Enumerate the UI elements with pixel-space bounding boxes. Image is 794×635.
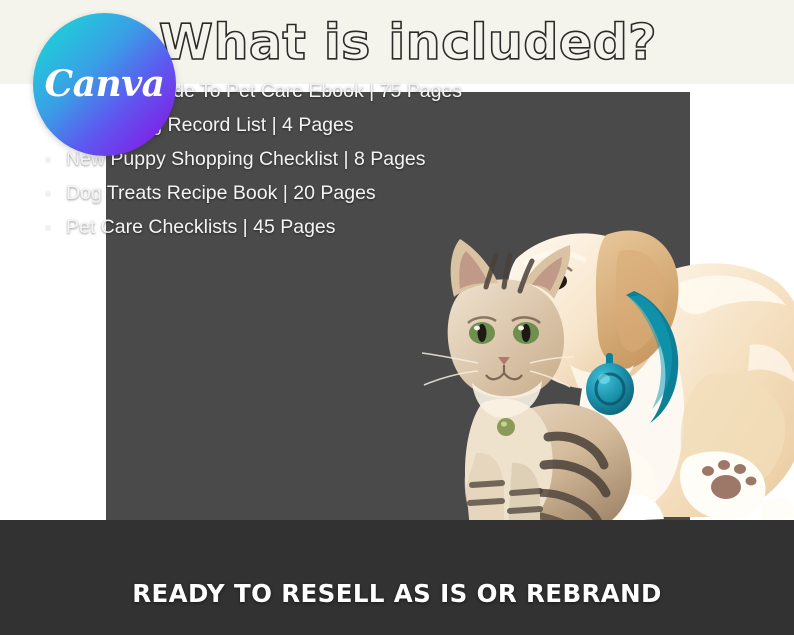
listing-image-canvas: What is included? [0,0,794,635]
footer-tagline: READY TO RESELL AS IS OR REBRAND [0,520,794,635]
canva-logo-text: Canva [33,13,176,156]
dog-and-cat-photo [420,195,794,530]
page-title: What is included? [178,2,638,82]
footer-band: READY TO RESELL AS IS OR REBRAND [0,520,794,635]
page-title-text: What is included? [159,18,657,67]
canva-logo: Canva [33,13,176,156]
